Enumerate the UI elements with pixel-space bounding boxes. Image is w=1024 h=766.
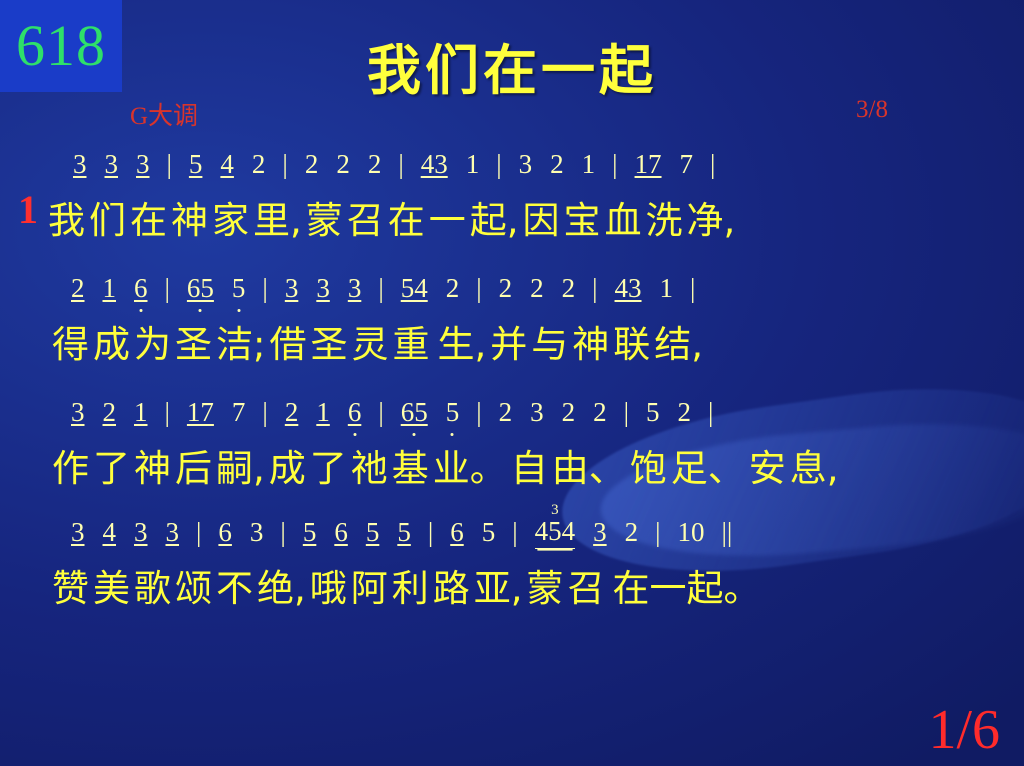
slide-page: 618 我们在一起 G大调 3/8 333|542|222|431|321|17… (0, 0, 1024, 766)
lyric-char: 起, (470, 190, 519, 244)
note-token: 5 (366, 517, 380, 548)
lyric-char: 为 (134, 314, 171, 368)
barline: | (622, 397, 631, 428)
barline: || (720, 517, 735, 548)
music-systems: 333|542|222|431|321|177| 我们在神家里,蒙召在一起,因宝… (0, 142, 1024, 616)
lyric-char: 成 (269, 438, 306, 492)
barline: | (376, 397, 385, 428)
barline: | (426, 517, 435, 548)
lyric-char: 净, (687, 190, 736, 244)
barline: | (260, 273, 269, 304)
lyric-char: 嗣, (216, 438, 265, 492)
barline: | (396, 149, 405, 180)
note-token: 2 (285, 397, 299, 428)
music-system-2: 216|655|333|542|222|431| 得成为圣洁;借圣灵重生,并与神… (0, 266, 1024, 372)
note-token: 3 (136, 149, 150, 180)
lyric-char: 召 (347, 190, 384, 244)
note-token: 5 (482, 517, 496, 548)
note-token: 3 (530, 397, 544, 428)
lyric-char: 并 (490, 314, 527, 368)
music-system-3: 321|177|216|655|2322|52| 作了神后嗣,成了祂基业。自由、… (0, 390, 1024, 496)
notation-line-3: 321|177|216|655|2322|52| (0, 390, 1024, 434)
note-token: 1 (316, 397, 330, 428)
note-token: 43 (615, 273, 642, 304)
key-signature-label: G大调 (130, 96, 198, 132)
lyric-char: 灵 (351, 314, 388, 368)
barline: | (260, 397, 269, 428)
lyric-char: 结, (654, 314, 703, 368)
barline: | (708, 149, 717, 180)
lyric-char: 一 (429, 190, 466, 244)
page-title: 我们在一起 (0, 26, 1024, 105)
note-token: 2 (562, 397, 576, 428)
barline: | (653, 517, 662, 548)
notation-line-4: 3433|63|5655|65|454332|10|| (0, 510, 1024, 554)
music-system-1: 333|542|222|431|321|177| 我们在神家里,蒙召在一起,因宝… (0, 142, 1024, 248)
note-token: 5 (189, 149, 203, 180)
note-token: 17 (635, 149, 662, 180)
note-token: 4 (220, 149, 234, 180)
notation-line-1: 333|542|222|431|321|177| (0, 142, 1024, 186)
note-token: 3 (166, 517, 180, 548)
note-token: 2 (368, 149, 382, 180)
note-token: 6 (348, 397, 362, 428)
note-token: 5 (232, 273, 246, 304)
barline: | (474, 397, 483, 428)
barline: | (706, 397, 715, 428)
note-token: 3 (593, 517, 607, 548)
note-token: 4543 (535, 516, 576, 549)
note-token: 6 (134, 273, 148, 304)
triplet-marker: 3 (551, 502, 559, 519)
note-token: 2 (625, 517, 639, 548)
note-token: 6 (450, 517, 464, 548)
note-token: 3 (250, 517, 264, 548)
lyric-char: 血 (605, 190, 642, 244)
lyric-char: 歌 (134, 558, 171, 612)
note-token: 2 (446, 273, 460, 304)
barline: | (688, 273, 697, 304)
lyric-char: 神 (171, 190, 208, 244)
barline: | (278, 517, 287, 548)
lyric-char: 了 (310, 438, 347, 492)
note-token: 17 (187, 397, 214, 428)
lyric-char: 宝 (564, 190, 601, 244)
lyric-char: 业。 (433, 438, 507, 492)
lyric-char: 路 (433, 558, 470, 612)
lyric-char: 生, (437, 314, 486, 368)
lyric-char: 神 (134, 438, 171, 492)
note-token: 3 (519, 149, 533, 180)
note-token: 5 (446, 397, 460, 428)
lyric-char: 得 (52, 314, 89, 368)
lyric-char: 蒙 (306, 190, 343, 244)
note-token: 3 (348, 273, 362, 304)
note-token: 3 (71, 397, 85, 428)
lyric-char: 息, (790, 438, 839, 492)
barline: | (194, 517, 203, 548)
lyric-char: 里, (253, 190, 302, 244)
note-token: 1 (103, 273, 117, 304)
lyric-char: 美 (93, 558, 130, 612)
lyrics-line-3: 作了神后嗣,成了祂基业。自由、饱足、安息, (0, 434, 1024, 496)
lyric-char: 重 (392, 314, 429, 368)
lyric-char: 圣 (175, 314, 212, 368)
lyric-char: 饱 (630, 438, 667, 492)
barline: | (163, 397, 172, 428)
note-token: 5 (397, 517, 411, 548)
lyric-char: 洁; (216, 314, 265, 368)
barline: | (376, 273, 385, 304)
lyric-char: 自 (511, 438, 548, 492)
time-signature-label: 3/8 (856, 96, 888, 124)
note-token: 2 (252, 149, 266, 180)
barline: | (494, 149, 503, 180)
note-token: 65 (187, 273, 214, 304)
lyric-char: 基 (392, 438, 429, 492)
lyric-char: 借 (269, 314, 306, 368)
note-token: 2 (305, 149, 319, 180)
barline: | (590, 273, 599, 304)
lyric-char: 蒙 (527, 558, 564, 612)
note-token: 7 (680, 149, 694, 180)
lyric-char: 后 (175, 438, 212, 492)
lyric-char: 足、 (671, 438, 745, 492)
lyrics-line-2: 得成为圣洁;借圣灵重生,并与神联结, (0, 310, 1024, 372)
lyric-char: 在一起。 (613, 558, 761, 612)
music-system-4: 3433|63|5655|65|454332|10|| 赞美歌颂不绝,哦阿利路亚… (0, 510, 1024, 616)
verse-number: 1 (18, 186, 38, 233)
lyrics-line-1: 我们在神家里,蒙召在一起,因宝血洗净, (0, 186, 1024, 248)
note-token: 3 (71, 517, 85, 548)
note-token: 4 (103, 517, 117, 548)
lyric-char: 安 (749, 438, 786, 492)
page-indicator: 1/6 (928, 698, 1000, 762)
note-token: 2 (71, 273, 85, 304)
note-token: 2 (499, 273, 513, 304)
note-token: 6 (218, 517, 232, 548)
note-token: 3 (134, 517, 148, 548)
lyric-char: 们 (89, 190, 126, 244)
lyric-char: 绝, (257, 558, 306, 612)
note-token: 6 (334, 517, 348, 548)
lyric-char: 我 (48, 190, 85, 244)
note-token: 2 (678, 397, 692, 428)
note-token: 2 (499, 397, 513, 428)
note-token: 1 (134, 397, 148, 428)
barline: | (165, 149, 174, 180)
note-token: 5 (646, 397, 660, 428)
lyric-char: 在 (388, 190, 425, 244)
note-token: 2 (103, 397, 117, 428)
note-token: 2 (593, 397, 607, 428)
lyric-char: 成 (93, 314, 130, 368)
lyric-char: 召 (568, 558, 605, 612)
barline: | (163, 273, 172, 304)
note-token: 5 (303, 517, 317, 548)
lyric-char: 亚, (474, 558, 523, 612)
barline: | (474, 273, 483, 304)
note-token: 2 (336, 149, 350, 180)
note-token: 1 (582, 149, 596, 180)
note-token: 2 (562, 273, 576, 304)
lyric-char: 了 (93, 438, 130, 492)
note-token: 7 (232, 397, 246, 428)
lyric-char: 不 (216, 558, 253, 612)
note-token: 3 (105, 149, 119, 180)
note-token: 2 (530, 273, 544, 304)
note-token: 1 (660, 273, 674, 304)
lyric-char: 由、 (552, 438, 626, 492)
lyric-char: 作 (52, 438, 89, 492)
note-token: 3 (73, 149, 87, 180)
lyric-char: 赞 (52, 558, 89, 612)
lyric-char: 利 (392, 558, 429, 612)
note-token: 54 (401, 273, 428, 304)
lyric-char: 阿 (351, 558, 388, 612)
lyric-char: 颂 (175, 558, 212, 612)
notation-line-2: 216|655|333|542|222|431| (0, 266, 1024, 310)
lyric-char: 联 (613, 314, 650, 368)
lyric-char: 圣 (310, 314, 347, 368)
lyric-char: 与 (531, 314, 568, 368)
lyrics-line-4: 赞美歌颂不绝,哦阿利路亚,蒙召在一起。 (0, 554, 1024, 616)
note-token: 3 (316, 273, 330, 304)
lyric-char: 在 (130, 190, 167, 244)
lyric-char: 洗 (646, 190, 683, 244)
lyric-char: 因 (523, 190, 560, 244)
lyric-char: 神 (572, 314, 609, 368)
lyric-char: 祂 (351, 438, 388, 492)
note-token: 43 (421, 149, 448, 180)
note-token: 3 (285, 273, 299, 304)
barline: | (510, 517, 519, 548)
lyric-char: 家 (212, 190, 249, 244)
barline: | (610, 149, 619, 180)
note-token: 2 (550, 149, 564, 180)
lyric-char: 哦 (310, 558, 347, 612)
note-token: 65 (401, 397, 428, 428)
barline: | (280, 149, 289, 180)
note-token: 1 (466, 149, 480, 180)
note-token: 10 (678, 517, 705, 548)
